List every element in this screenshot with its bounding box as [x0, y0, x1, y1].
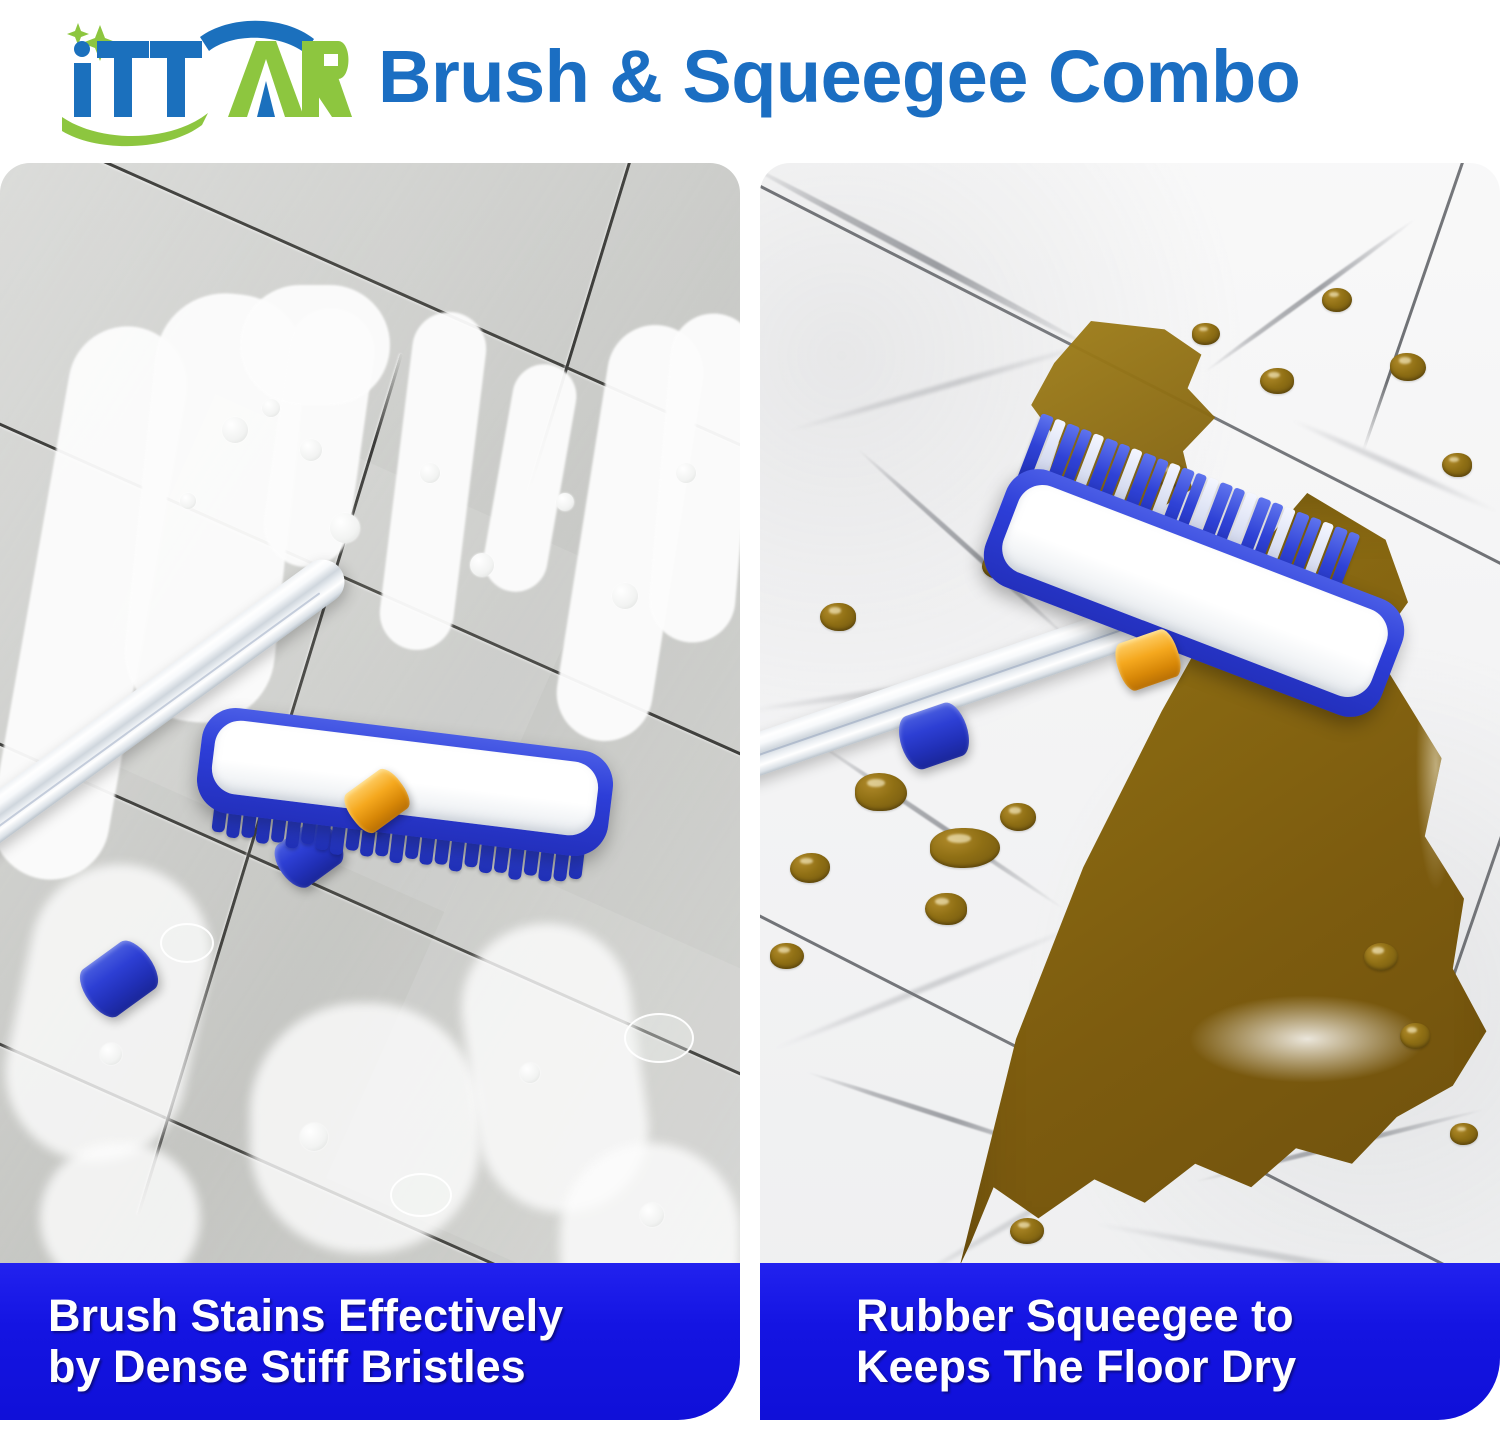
soap-bubble: [676, 463, 696, 483]
soap-bubble-ring: [624, 1013, 694, 1063]
caption-bar-left: Brush Stains Effectively by Dense Stiff …: [0, 1263, 740, 1420]
caption-line-2: by Dense Stiff Bristles: [0, 1342, 740, 1392]
marble-spill-scene: [760, 163, 1500, 1264]
product-infographic: Brush & Squeegee Combo: [0, 0, 1500, 1434]
soap-foam: [250, 1003, 480, 1253]
header: Brush & Squeegee Combo: [0, 0, 1500, 158]
liquid-droplet: [1322, 288, 1352, 312]
panel-brush-demo: [0, 163, 740, 1264]
liquid-droplet: [1400, 1023, 1430, 1049]
liquid-droplet: [1450, 1123, 1478, 1145]
soap-bubble: [100, 1043, 122, 1065]
soap-bubble: [300, 1123, 328, 1151]
liquid-droplet: [1442, 453, 1472, 477]
liquid-droplet: [925, 893, 967, 925]
logo-swoosh-bottom: [62, 113, 208, 146]
brand-logo: [52, 9, 352, 149]
liquid-droplet: [855, 773, 907, 811]
soap-bubble: [300, 439, 322, 461]
soap-bubble: [470, 553, 494, 577]
caption-line-2: Keeps The Floor Dry: [760, 1342, 1500, 1392]
soap-bubble: [556, 493, 574, 511]
soap-bubble: [262, 399, 280, 417]
liquid-droplet: [1364, 943, 1398, 971]
soap-bubble: [520, 1063, 540, 1083]
soap-bubble-ring: [160, 923, 214, 963]
soap-foam: [240, 285, 390, 405]
soap-bubble: [222, 417, 248, 443]
soap-bubble: [420, 463, 440, 483]
soap-bubble: [640, 1203, 664, 1227]
soap-bubble: [330, 513, 360, 543]
panel-squeegee-demo: [760, 163, 1500, 1264]
soap-bubble-ring: [390, 1173, 452, 1217]
liquid-droplet: [1260, 368, 1294, 394]
caption-line-1: Rubber Squeegee to: [760, 1291, 1500, 1341]
liquid-droplet: [790, 853, 830, 883]
liquid-droplet: [820, 603, 856, 631]
liquid-droplet: [930, 828, 1000, 868]
liquid-droplet: [1010, 1218, 1044, 1244]
soap-bubble: [180, 493, 196, 509]
page-title: Brush & Squeegee Combo: [378, 40, 1300, 118]
liquid-droplet: [1000, 803, 1036, 831]
caption-line-1: Brush Stains Effectively: [0, 1291, 740, 1341]
soapy-tile-scene: [0, 163, 740, 1264]
liquid-droplet: [1192, 323, 1220, 345]
liquid-droplet: [770, 943, 804, 969]
soap-bubble: [612, 583, 638, 609]
caption-bar-right: Rubber Squeegee to Keeps The Floor Dry: [760, 1263, 1500, 1420]
liquid-droplet: [1390, 353, 1426, 381]
